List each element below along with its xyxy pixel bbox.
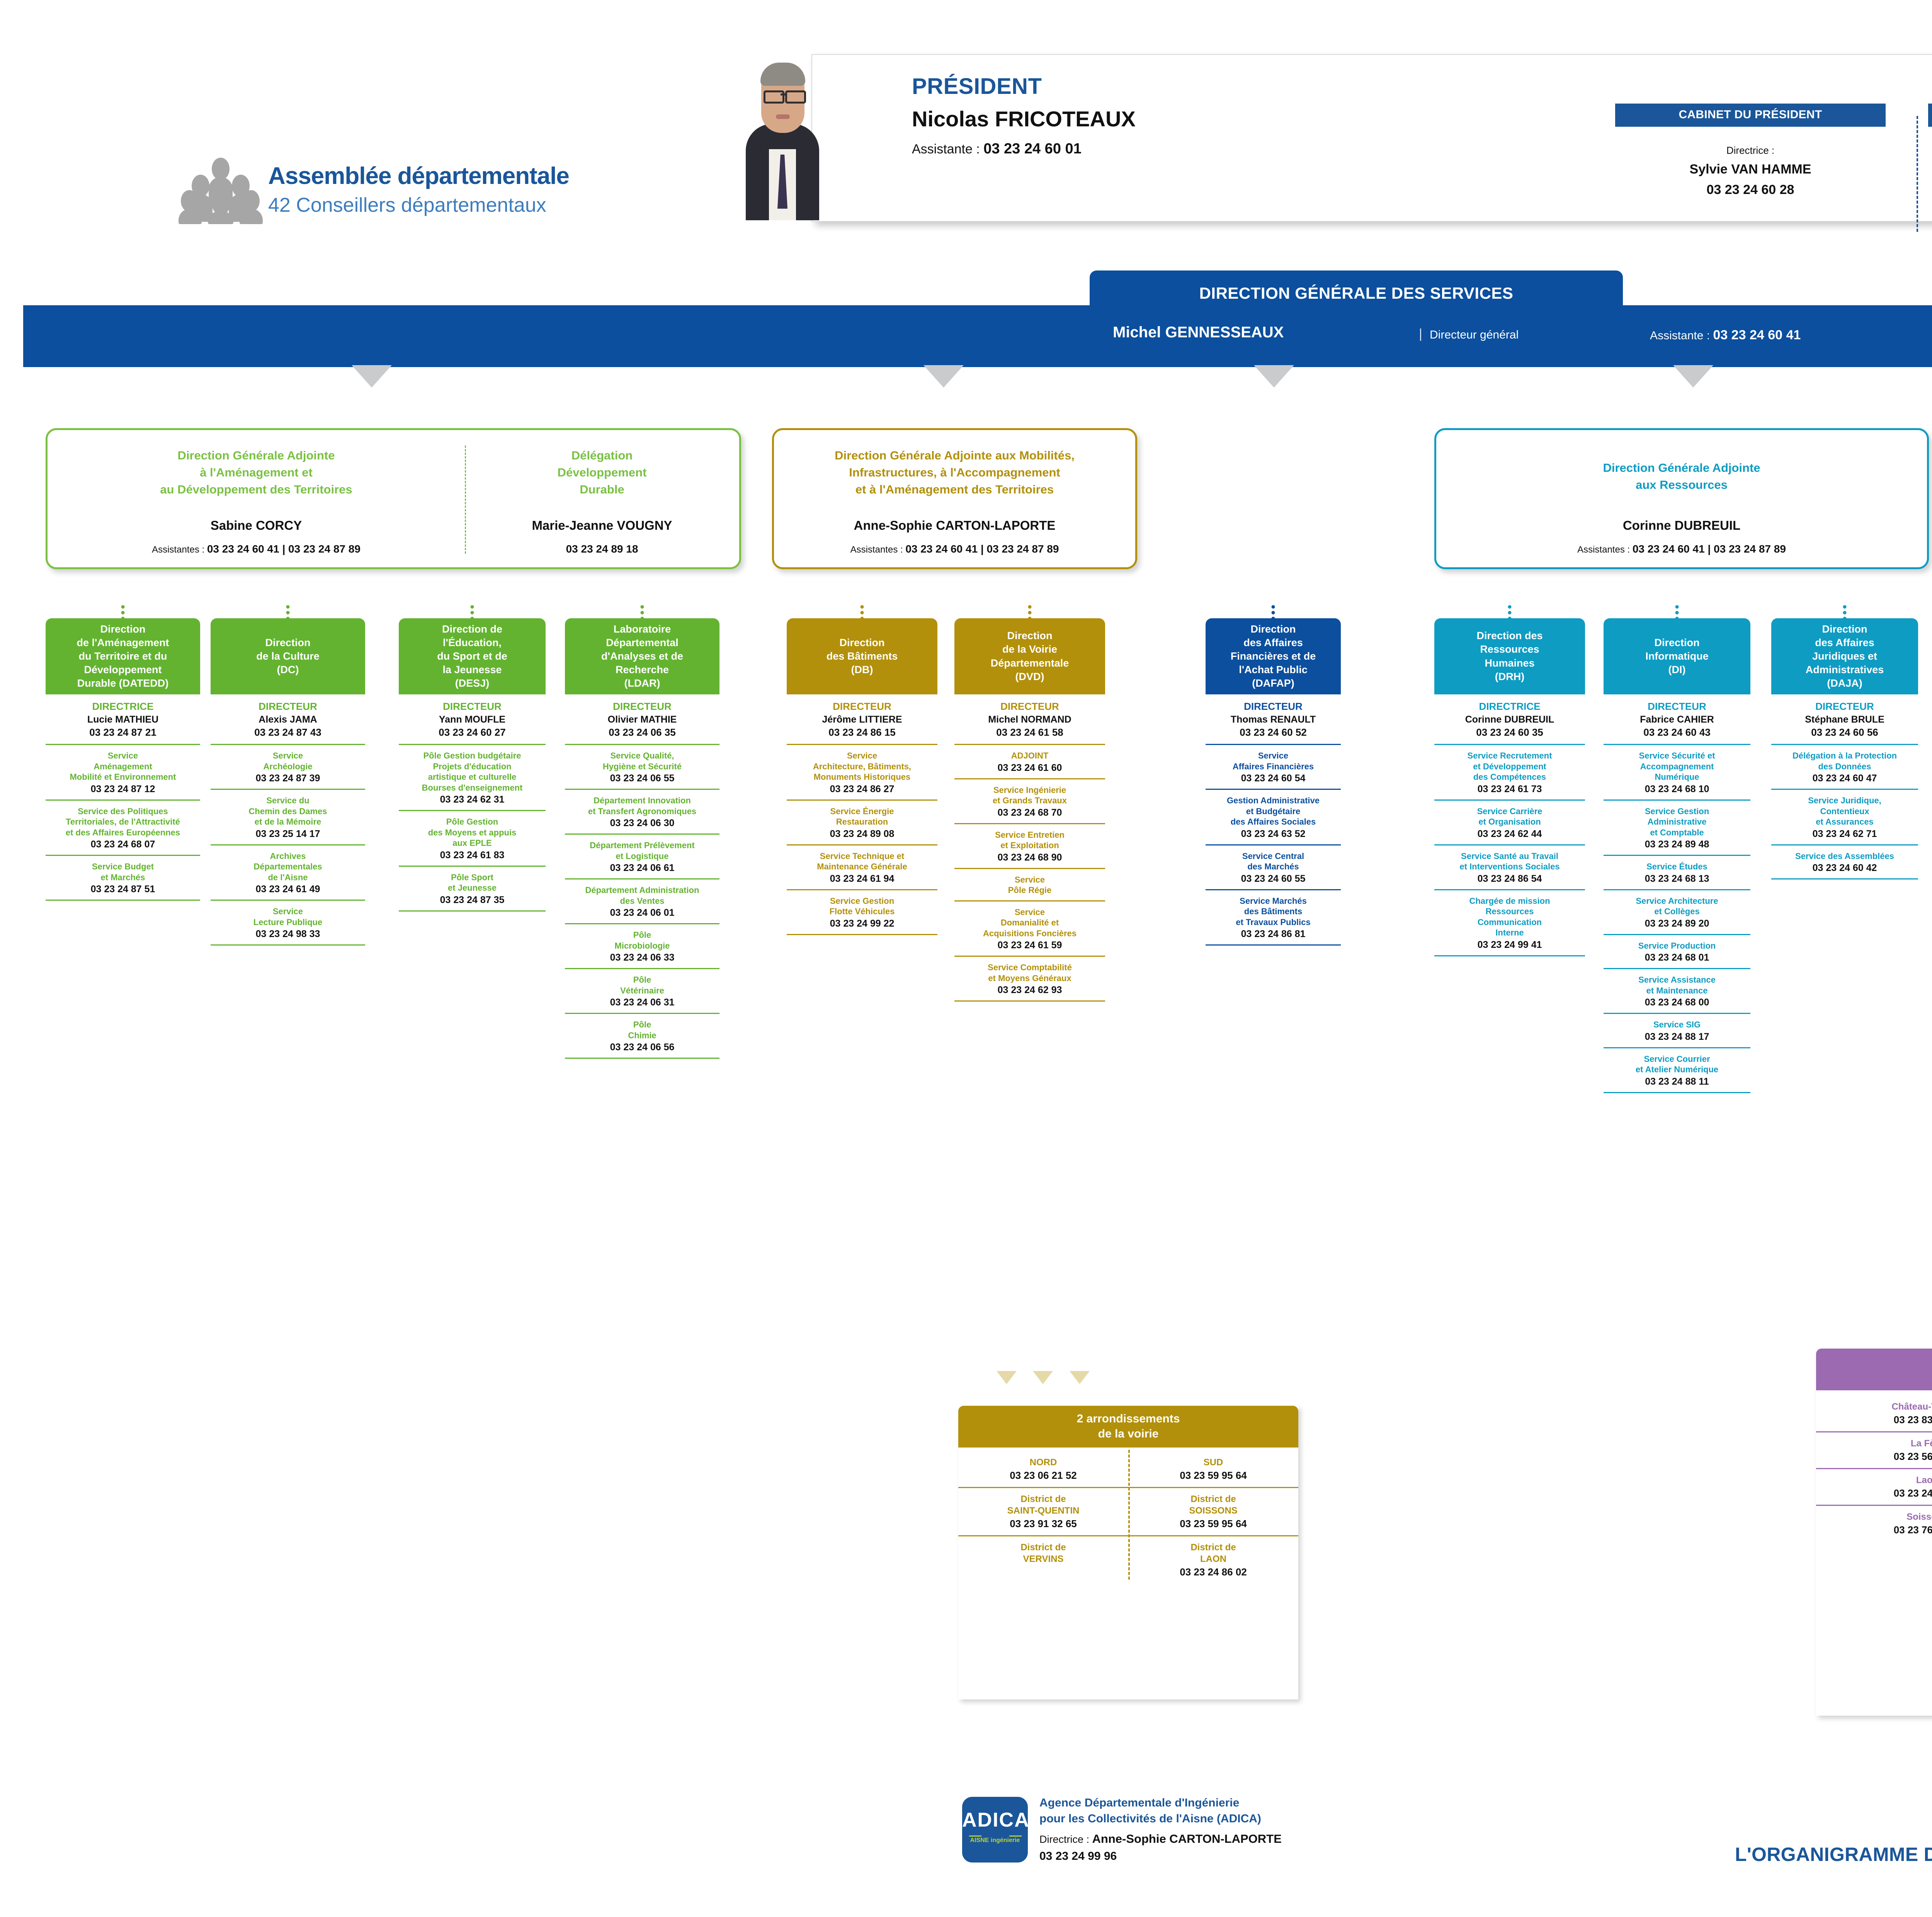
director-role-drh: DIRECTRICE <box>1434 701 1585 713</box>
director-role-dafap: DIRECTEUR <box>1206 701 1341 713</box>
service-dafap-1: Gestion Administrativeet Budgétairedes A… <box>1206 789 1341 844</box>
service-label-desj-0: Pôle Gestion budgétaireProjets d'éducati… <box>399 750 546 793</box>
president-name: Nicolas FRICOTEAUX <box>912 106 1260 131</box>
voirie-arrows <box>989 1371 1113 1386</box>
dga-ressources-assist-tels: 03 23 24 60 41 | 03 23 24 87 89 <box>1633 543 1786 555</box>
service-tel-desj-2: 03 23 24 87 35 <box>399 895 546 906</box>
president-photo <box>746 58 819 220</box>
arr-body-tel-0-1: 03 23 91 32 65 <box>961 1518 1126 1530</box>
direction-title-datedd: Directionde l'Aménagementdu Territoire e… <box>46 618 200 694</box>
direction-title-desj: Direction del'Éducation,du Sport et dela… <box>399 618 546 694</box>
service-dvd-3: ServicePôle Régie <box>954 868 1105 900</box>
service-label-db-2: Service Technique etMaintenance Générale <box>787 851 937 872</box>
service-tel-dc-1: 03 23 25 14 17 <box>211 828 365 840</box>
service-daja-0: Délégation à la Protectiondes Données03 … <box>1771 744 1918 789</box>
service-tel-daja-1: 03 23 24 62 71 <box>1771 828 1918 840</box>
column-end-rule-dvd <box>954 1000 1105 1002</box>
director-tel-daja: 03 23 24 60 56 <box>1771 726 1918 738</box>
arr-body-label-0-2: District deVERVINS <box>961 1542 1126 1565</box>
service-daja-2: Service des Assemblées03 23 24 60 42 <box>1771 844 1918 879</box>
director-name-daja: Stéphane BRULE <box>1771 714 1918 725</box>
dga-ressources-box: Direction Générale Adjointeaux Ressource… <box>1434 428 1929 569</box>
dga-ressources-assistants: Assistantes : 03 23 24 60 41 | 03 23 24 … <box>1442 543 1922 555</box>
service-tel-db-2: 03 23 24 61 94 <box>787 873 937 885</box>
service-label-db-1: Service ÉnergieRestauration <box>787 806 937 827</box>
service-label-drh-0: Service Recrutementet Développementdes C… <box>1434 750 1585 782</box>
assembly-title: Assemblée départementale <box>268 162 569 190</box>
dga-ressources-title: Direction Générale Adjointeaux Ressource… <box>1442 459 1922 493</box>
service-db-1: Service ÉnergieRestauration03 23 24 89 0… <box>787 799 937 844</box>
organigramme-page: Assemblée départementale 42 Conseillers … <box>0 0 1932 1917</box>
dgs-assistant-tel: 03 23 24 60 41 <box>1713 328 1801 342</box>
arrondissements-title: 2 arrondissementsde la voirie <box>958 1406 1298 1448</box>
service-tel-ldar-5: 03 23 24 06 31 <box>565 997 719 1008</box>
direction-column-datedd: Directionde l'Aménagementdu Territoire e… <box>46 618 200 901</box>
director-name-di: Fabrice CAHIER <box>1604 714 1750 725</box>
service-ldar-3: Département Administrationdes Ventes03 2… <box>565 878 719 923</box>
service-tel-dvd-5: 03 23 24 62 93 <box>954 985 1105 996</box>
column-end-rule-drh <box>1434 955 1585 956</box>
arr-body-entry-1-0: SUD03 23 59 95 64 <box>1128 1451 1298 1487</box>
service-label-dvd-4: ServiceDomanialité etAcquisitions Fonciè… <box>954 907 1105 939</box>
arr-body-col-1: SUD03 23 59 95 64District deSOISSONS03 2… <box>1128 1451 1298 1584</box>
service-tel-desj-1: 03 23 24 61 83 <box>399 850 546 861</box>
service-dvd-4: ServiceDomanialité etAcquisitions Fonciè… <box>954 900 1105 956</box>
arr-body-label-0-1: District deSAINT-QUENTIN <box>961 1493 1126 1517</box>
service-tel-dafap-0: 03 23 24 60 54 <box>1206 773 1341 784</box>
dgs-separator: | <box>1419 327 1422 342</box>
adica-block: ADICA AISNE ingénierie Agence Départemen… <box>962 1797 1028 1863</box>
dga-mobilites-assist-label: Assistantes : <box>850 544 903 555</box>
connector-dots-ldar <box>641 605 644 623</box>
communication-director-role: Directrice : <box>1928 145 1932 156</box>
dgs-assistant: Assistante : 03 23 24 60 41 <box>1650 328 1801 343</box>
direction-column-di: DirectionInformatique(DI)DIRECTEURFabric… <box>1604 618 1750 1093</box>
direction-column-dc: Directionde la Culture(DC)DIRECTEURAlexi… <box>211 618 365 946</box>
utas-body-tel-0-1: 03 23 56 60 24 <box>1818 1451 1932 1463</box>
director-name-ldar: Olivier MATHIE <box>565 714 719 725</box>
service-datedd-2: Service Budgetet Marchés03 23 24 87 51 <box>46 855 200 900</box>
service-tel-ldar-0: 03 23 24 06 55 <box>565 773 719 784</box>
service-di-0: Service Sécurité etAccompagnementNumériq… <box>1604 744 1750 799</box>
service-drh-2: Service Santé au Travailet Interventions… <box>1434 844 1585 889</box>
dga-ressources-name: Corinne DUBREUIL <box>1442 518 1922 533</box>
cabinet-du-president-title: CABINET DU PRÉSIDENT <box>1615 104 1886 127</box>
service-tel-drh-3: 03 23 24 99 41 <box>1434 939 1585 951</box>
connector-dots-dc <box>286 605 290 623</box>
service-tel-dafap-3: 03 23 24 86 81 <box>1206 929 1341 940</box>
connector-dots-daja <box>1843 605 1847 623</box>
service-label-dafap-0: ServiceAffaires Financières <box>1206 750 1341 772</box>
service-tel-datedd-1: 03 23 24 68 07 <box>46 839 200 850</box>
arr-body-tel-1-0: 03 23 59 95 64 <box>1131 1470 1296 1482</box>
group-people-icon <box>182 155 259 224</box>
utas-body-label-0-0: Château-Thierry <box>1818 1401 1932 1413</box>
service-label-ldar-5: PôleVétérinaire <box>565 975 719 996</box>
direction-column-drh: Direction desRessourcesHumaines(DRH)DIRE… <box>1434 618 1585 956</box>
dgs-connector-1 <box>352 365 392 388</box>
delegation-dd-tel: 03 23 24 89 18 <box>566 543 638 555</box>
service-tel-db-0: 03 23 24 86 27 <box>787 784 937 795</box>
column-end-rule-dafap <box>1206 944 1341 946</box>
service-tel-db-3: 03 23 24 99 22 <box>787 918 937 929</box>
service-label-di-1: Service GestionAdministrativeet Comptabl… <box>1604 806 1750 838</box>
service-tel-dc-3: 03 23 24 98 33 <box>211 929 365 940</box>
director-role-ldar: DIRECTEUR <box>565 701 719 713</box>
service-label-drh-3: Chargée de missionRessourcesCommunicatio… <box>1434 896 1585 938</box>
direction-column-dafap: Directiondes AffairesFinancières et del'… <box>1206 618 1341 946</box>
director-role-dvd: DIRECTEUR <box>954 701 1105 713</box>
dga-territoires-title: Direction Générale Adjointeà l'Aménageme… <box>59 447 453 498</box>
utas-title: Unités Territoriales d'Action Sociale(UT… <box>1816 1349 1932 1390</box>
cabinet-du-president-block: CABINET DU PRÉSIDENT Directrice : Sylvie… <box>1615 104 1886 197</box>
arr-body-entry-0-1: District deSAINT-QUENTIN03 23 91 32 65 <box>958 1487 1128 1535</box>
arr-body-tel-1-2: 03 23 24 86 02 <box>1131 1566 1296 1578</box>
service-tel-daja-0: 03 23 24 60 47 <box>1771 773 1918 784</box>
service-di-4: Service Production03 23 24 68 01 <box>1604 934 1750 968</box>
connector-dots-dvd <box>1028 605 1032 623</box>
service-label-desj-2: Pôle Sportet Jeunesse <box>399 872 546 893</box>
direction-column-daja: Directiondes AffairesJuridiques etAdmini… <box>1771 618 1918 879</box>
direction-title-daja: Directiondes AffairesJuridiques etAdmini… <box>1771 618 1918 694</box>
delegation-dd-tel-block: 03 23 24 89 18 <box>476 543 728 555</box>
adica-director-label: Directrice : <box>1039 1834 1089 1845</box>
service-dafap-0: ServiceAffaires Financières03 23 24 60 5… <box>1206 744 1341 789</box>
adica-director: Directrice : Anne-Sophie CARTON-LAPORTE <box>1039 1832 1426 1846</box>
service-label-dc-3: ServiceLecture Publique <box>211 906 365 927</box>
adica-title: Agence Départementale d'Ingénieriepour l… <box>1039 1795 1426 1827</box>
service-dafap-3: Service Marchésdes Bâtimentset Travaux P… <box>1206 889 1341 945</box>
service-tel-desj-0: 03 23 24 62 31 <box>399 794 546 805</box>
service-desj-0: Pôle Gestion budgétaireProjets d'éducati… <box>399 744 546 810</box>
service-label-di-0: Service Sécurité etAccompagnementNumériq… <box>1604 750 1750 782</box>
connector-dots-dafap <box>1272 605 1275 623</box>
service-desj-2: Pôle Sportet Jeunesse03 23 24 87 35 <box>399 866 546 910</box>
dgs-bar <box>23 305 1932 367</box>
service-tel-datedd-2: 03 23 24 87 51 <box>46 884 200 895</box>
service-tel-dvd-1: 03 23 24 68 70 <box>954 807 1105 818</box>
dga-territoires-assist-label: Assistantes : <box>152 544 204 555</box>
service-tel-datedd-0: 03 23 24 87 12 <box>46 784 200 795</box>
service-tel-dvd-2: 03 23 24 68 90 <box>954 852 1105 863</box>
service-drh-0: Service Recrutementet Développementdes C… <box>1434 744 1585 799</box>
service-tel-ldar-6: 03 23 24 06 56 <box>565 1042 719 1053</box>
director-name-drh: Corinne DUBREUIL <box>1434 714 1585 725</box>
adica-logo-icon: ADICA AISNE ingénierie <box>962 1797 1028 1863</box>
service-datedd-0: ServiceAménagementMobilité et Environnem… <box>46 744 200 799</box>
director-name-db: Jérôme LITTIERE <box>787 714 937 725</box>
service-tel-di-4: 03 23 24 68 01 <box>1604 952 1750 963</box>
service-label-di-3: Service Architectureet Collèges <box>1604 896 1750 917</box>
director-tel-di: 03 23 24 60 43 <box>1604 726 1750 738</box>
service-label-dc-2: ArchivesDépartementalesde l'Aisne <box>211 851 365 883</box>
arr-body-col-0: NORD03 23 06 21 52District deSAINT-QUENT… <box>958 1451 1128 1570</box>
service-tel-ldar-3: 03 23 24 06 01 <box>565 907 719 919</box>
utas-body-entry-0-0: Château-Thierry03 23 83 85 03 <box>1816 1396 1932 1431</box>
direction-column-desj: Direction del'Éducation,du Sport et dela… <box>399 618 546 912</box>
director-tel-db: 03 23 24 86 15 <box>787 726 937 738</box>
dga-mobilites-box: Direction Générale Adjointe aux Mobilité… <box>772 428 1137 569</box>
director-role-di: DIRECTEUR <box>1604 701 1750 713</box>
director-role-db: DIRECTEUR <box>787 701 937 713</box>
director-role-daja: DIRECTEUR <box>1771 701 1918 713</box>
service-label-di-2: Service Études <box>1604 861 1750 872</box>
president-role: PRÉSIDENT <box>912 73 1260 99</box>
direction-title-ldar: LaboratoireDépartementald'Analyses et de… <box>565 618 719 694</box>
service-ldar-1: Département Innovationet Transfert Agron… <box>565 789 719 833</box>
connector-dots-datedd <box>121 605 125 623</box>
dga-mobilites-assistants: Assistantes : 03 23 24 60 41 | 03 23 24 … <box>779 543 1130 555</box>
utas-body-entry-0-3: Soissons03 23 76 30 41 <box>1816 1505 1932 1541</box>
service-label-db-3: Service GestionFlotte Véhicules <box>787 896 937 917</box>
direction-title-dvd: Directionde la VoirieDépartementale(DVD) <box>954 618 1105 694</box>
service-db-2: Service Technique etMaintenance Générale… <box>787 844 937 889</box>
service-label-ldar-6: PôleChimie <box>565 1019 719 1041</box>
utas-body-tel-0-3: 03 23 76 30 41 <box>1818 1524 1932 1536</box>
service-tel-dafap-1: 03 23 24 63 52 <box>1206 828 1341 840</box>
arr-body-entry-0-2: District deVERVINS <box>958 1535 1128 1570</box>
president-assistant-tel: 03 23 24 60 01 <box>983 141 1082 157</box>
service-label-dvd-2: Service Entretienet Exploitation <box>954 830 1105 851</box>
service-dafap-2: Service Centraldes Marchés03 23 24 60 55 <box>1206 844 1341 889</box>
service-tel-dc-0: 03 23 24 87 39 <box>211 773 365 784</box>
director-name-dc: Alexis JAMA <box>211 714 365 725</box>
connector-dots-di <box>1675 605 1679 623</box>
service-ldar-4: PôleMicrobiologie03 23 24 06 33 <box>565 923 719 968</box>
delegation-dd-title: DélégationDéveloppementDurable <box>476 447 728 498</box>
service-dc-3: ServiceLecture Publique03 23 24 98 33 <box>211 900 365 944</box>
service-ldar-5: PôleVétérinaire03 23 24 06 31 <box>565 968 719 1013</box>
service-tel-ldar-1: 03 23 24 06 30 <box>565 818 719 829</box>
service-drh-1: Service Carrièreet Organisation03 23 24 … <box>1434 799 1585 844</box>
service-dc-1: Service duChemin des Dameset de la Mémoi… <box>211 789 365 844</box>
director-name-dvd: Michel NORMAND <box>954 714 1105 725</box>
delegation-dd-name: Marie-Jeanne VOUGNY <box>476 518 728 533</box>
connector-dots-db <box>861 605 864 623</box>
direction-title-di: DirectionInformatique(DI) <box>1604 618 1750 694</box>
service-label-dc-1: Service duChemin des Dameset de la Mémoi… <box>211 795 365 827</box>
utas-body-col-0: Château-Thierry03 23 83 85 03La Fère03 2… <box>1816 1396 1932 1541</box>
service-dc-2: ArchivesDépartementalesde l'Aisne03 23 2… <box>211 844 365 900</box>
service-label-dvd-0: ADJOINT <box>954 750 1105 761</box>
dga-mobilites-name: Anne-Sophie CARTON-LAPORTE <box>779 518 1130 533</box>
service-label-dvd-1: Service Ingénierieet Grands Travaux <box>954 785 1105 806</box>
director-tel-datedd: 03 23 24 87 21 <box>46 726 200 738</box>
director-tel-desj: 03 23 24 60 27 <box>399 726 546 738</box>
arr-body-label-1-1: District deSOISSONS <box>1131 1493 1296 1517</box>
arr-body-label-0-0: NORD <box>961 1457 1126 1468</box>
dgs-name: Michel GENNESSEAUX <box>1113 324 1284 341</box>
director-tel-drh: 03 23 24 60 35 <box>1434 726 1585 738</box>
service-tel-di-2: 03 23 24 68 13 <box>1604 873 1750 885</box>
header-divider-1 <box>1917 116 1918 232</box>
direction-title-drh: Direction desRessourcesHumaines(DRH) <box>1434 618 1585 694</box>
service-ldar-6: PôleChimie03 23 24 06 56 <box>565 1013 719 1058</box>
column-end-rule-di <box>1604 1092 1750 1093</box>
director-tel-dc: 03 23 24 87 43 <box>211 726 365 738</box>
dgs-title: DIRECTION GÉNÉRALE DES SERVICES <box>1199 284 1514 302</box>
service-label-di-4: Service Production <box>1604 941 1750 951</box>
director-tel-ldar: 03 23 24 06 35 <box>565 726 719 738</box>
service-daja-1: Service Juridique,Contentieuxet Assuranc… <box>1771 789 1918 844</box>
communication-director-name: Annie BEAUVILLAIN <box>1928 162 1932 177</box>
cabinet-director-tel: 03 23 24 60 28 <box>1615 182 1886 197</box>
director-role-datedd: DIRECTRICE <box>46 701 200 713</box>
adica-director-name: Anne-Sophie CARTON-LAPORTE <box>1092 1832 1282 1846</box>
arr-body-label-1-0: SUD <box>1131 1457 1296 1468</box>
service-ldar-0: Service Qualité,Hygiène et Sécurité03 23… <box>565 744 719 789</box>
director-role-desj: DIRECTEUR <box>399 701 546 713</box>
service-tel-drh-2: 03 23 24 86 54 <box>1434 873 1585 885</box>
service-tel-di-3: 03 23 24 89 20 <box>1604 918 1750 929</box>
utas-body-label-0-3: Soissons <box>1818 1511 1932 1523</box>
service-label-ldar-4: PôleMicrobiologie <box>565 930 719 951</box>
service-di-2: Service Études03 23 24 68 13 <box>1604 855 1750 889</box>
dgs-connector-3 <box>1254 365 1294 388</box>
column-end-rule-dc <box>211 944 365 946</box>
service-label-dafap-2: Service Centraldes Marchés <box>1206 851 1341 872</box>
director-tel-dvd: 03 23 24 61 58 <box>954 726 1105 738</box>
cabinet-director-role: Directrice : <box>1615 145 1886 156</box>
column-end-rule-daja <box>1771 878 1918 879</box>
service-dc-0: ServiceArchéologie03 23 24 87 39 <box>211 744 365 789</box>
service-label-datedd-0: ServiceAménagementMobilité et Environnem… <box>46 750 200 782</box>
column-end-rule-datedd <box>46 900 200 901</box>
connector-dots-desj <box>471 605 474 623</box>
service-label-dvd-5: Service Comptabilitéet Moyens Généraux <box>954 962 1105 983</box>
service-label-dafap-3: Service Marchésdes Bâtimentset Travaux P… <box>1206 896 1341 928</box>
dga-territoires-assistants: Assistantes : 03 23 24 60 41 | 03 23 24 … <box>59 543 453 555</box>
utas-body-tel-0-0: 03 23 83 85 03 <box>1818 1414 1932 1426</box>
president-assistant-label: Assistante : <box>912 142 980 156</box>
service-tel-di-7: 03 23 24 88 11 <box>1604 1076 1750 1087</box>
service-tel-dvd-4: 03 23 24 61 59 <box>954 940 1105 951</box>
utas-body-entry-0-2: Laon03 23 24 61 04 <box>1816 1468 1932 1505</box>
service-dvd-0: ADJOINT03 23 24 61 60 <box>954 744 1105 778</box>
service-ldar-2: Département Prélèvementet Logistique03 2… <box>565 833 719 878</box>
service-tel-di-6: 03 23 24 88 17 <box>1604 1031 1750 1043</box>
service-dvd-2: Service Entretienet Exploitation03 23 24… <box>954 823 1105 868</box>
service-tel-di-0: 03 23 24 68 10 <box>1604 784 1750 795</box>
service-label-di-5: Service Assistanceet Maintenance <box>1604 975 1750 996</box>
service-label-desj-1: Pôle Gestiondes Moyens et appuisaux EPLE <box>399 816 546 849</box>
service-label-dafap-1: Gestion Administrativeet Budgétairedes A… <box>1206 795 1341 827</box>
service-di-1: Service GestionAdministrativeet Comptabl… <box>1604 799 1750 855</box>
dga-territoires-divider <box>465 446 466 554</box>
utas-body-tel-0-2: 03 23 24 61 04 <box>1818 1487 1932 1499</box>
service-label-drh-2: Service Santé au Travailet Interventions… <box>1434 851 1585 872</box>
service-di-5: Service Assistanceet Maintenance03 23 24… <box>1604 968 1750 1013</box>
utas-body-label-0-1: La Fère <box>1818 1438 1932 1449</box>
service-label-datedd-2: Service Budgetet Marchés <box>46 861 200 883</box>
arr-body-label-1-2: District deLAON <box>1131 1542 1296 1565</box>
direction-title-db: Directiondes Bâtiments(DB) <box>787 618 937 694</box>
arr-body-entry-0-0: NORD03 23 06 21 52 <box>958 1451 1128 1487</box>
service-label-ldar-1: Département Innovationet Transfert Agron… <box>565 795 719 816</box>
utas-body-label-0-2: Laon <box>1818 1475 1932 1486</box>
director-tel-dafap: 03 23 24 60 52 <box>1206 726 1341 738</box>
service-tel-ldar-4: 03 23 24 06 33 <box>565 952 719 963</box>
column-end-rule-desj <box>399 910 546 912</box>
service-dvd-1: Service Ingénierieet Grands Travaux03 23… <box>954 778 1105 823</box>
adica-logo-sub: AISNE ingénierie <box>962 1837 1028 1844</box>
dga-mobilites-title: Direction Générale Adjointe aux Mobilité… <box>779 447 1130 498</box>
direction-column-ldar: LaboratoireDépartementald'Analyses et de… <box>565 618 719 1059</box>
service-drh-3: Chargée de missionRessourcesCommunicatio… <box>1434 889 1585 955</box>
service-tel-dc-2: 03 23 24 61 49 <box>211 884 365 895</box>
service-tel-dvd-0: 03 23 24 61 60 <box>954 762 1105 774</box>
service-label-daja-2: Service des Assemblées <box>1771 851 1918 862</box>
service-desj-1: Pôle Gestiondes Moyens et appuisaux EPLE… <box>399 810 546 866</box>
service-label-dc-0: ServiceArchéologie <box>211 750 365 772</box>
arr-body-tel-0-0: 03 23 06 21 52 <box>961 1470 1126 1482</box>
service-tel-di-1: 03 23 24 89 48 <box>1604 839 1750 850</box>
dga-territoires-assist-tels: 03 23 24 60 41 | 03 23 24 87 89 <box>207 543 361 555</box>
service-tel-daja-2: 03 23 24 60 42 <box>1771 862 1918 874</box>
arr-body-tel-1-1: 03 23 59 95 64 <box>1131 1518 1296 1530</box>
column-end-rule-db <box>787 934 937 935</box>
arr-body-entry-1-1: District deSOISSONS03 23 59 95 64 <box>1128 1487 1298 1535</box>
dgs-connector-2 <box>923 365 964 388</box>
service-tel-dafap-2: 03 23 24 60 55 <box>1206 873 1341 885</box>
director-name-desj: Yann MOUFLE <box>399 714 546 725</box>
director-name-datedd: Lucie MATHIEU <box>46 714 200 725</box>
service-label-datedd-1: Service des PolitiquesTerritoriales, de … <box>46 806 200 838</box>
dga-ressources-assist-label: Assistantes : <box>1577 544 1630 555</box>
service-dvd-5: Service Comptabilitéet Moyens Généraux03… <box>954 956 1105 1000</box>
arr-body-entry-1-2: District deLAON03 23 24 86 02 <box>1128 1535 1298 1584</box>
footer-title: L'ORGANIGRAMME DES SERVICES DU DÉPARTEME… <box>1735 1843 1932 1866</box>
column-end-rule-ldar <box>565 1058 719 1059</box>
dga-territoires-name: Sabine CORCY <box>59 518 453 533</box>
service-label-daja-0: Délégation à la Protectiondes Données <box>1771 750 1918 772</box>
service-label-ldar-2: Département Prélèvementet Logistique <box>565 840 719 861</box>
service-label-ldar-0: Service Qualité,Hygiène et Sécurité <box>565 750 719 772</box>
service-db-3: Service GestionFlotte Véhicules03 23 24 … <box>787 889 937 934</box>
direction-column-db: Directiondes Bâtiments(DB)DIRECTEURJérôm… <box>787 618 937 935</box>
service-datedd-1: Service des PolitiquesTerritoriales, de … <box>46 799 200 855</box>
service-tel-di-5: 03 23 24 68 00 <box>1604 997 1750 1008</box>
assembly-subtitle: 42 Conseillers départementaux <box>268 194 569 217</box>
service-label-ldar-3: Département Administrationdes Ventes <box>565 885 719 906</box>
service-tel-drh-1: 03 23 24 62 44 <box>1434 828 1585 840</box>
communication-director-block: Directrice : Annie BEAUVILLAIN 03 23 24 … <box>1928 104 1932 197</box>
service-db-0: ServiceArchitecture, Bâtiments,Monuments… <box>787 744 937 799</box>
service-label-db-0: ServiceArchitecture, Bâtiments,Monuments… <box>787 750 937 782</box>
cabinet-director-name: Sylvie VAN HAMME <box>1615 162 1886 177</box>
connector-dots-drh <box>1508 605 1512 623</box>
service-di-7: Service Courrieret Atelier Numérique03 2… <box>1604 1047 1750 1092</box>
communication-director-tel: 03 23 24 86 99 <box>1928 182 1932 197</box>
assembly-block: Assemblée départementale 42 Conseillers … <box>182 151 638 228</box>
service-di-3: Service Architectureet Collèges03 23 24 … <box>1604 889 1750 934</box>
dga-mobilites-assist-tels: 03 23 24 60 41 | 03 23 24 87 89 <box>905 543 1059 555</box>
service-tel-db-1: 03 23 24 89 08 <box>787 828 937 840</box>
director-role-dc: DIRECTEUR <box>211 701 365 713</box>
service-label-di-6: Service SIG <box>1604 1019 1750 1030</box>
adica-logo-text: ADICA <box>962 1808 1028 1832</box>
service-label-di-7: Service Courrieret Atelier Numérique <box>1604 1054 1750 1075</box>
dgs-role: Directeur général <box>1430 328 1519 342</box>
service-di-6: Service SIG03 23 24 88 17 <box>1604 1013 1750 1047</box>
direction-title-dc: Directionde la Culture(DC) <box>211 618 365 694</box>
dga-territoires-box: Direction Générale Adjointeà l'Aménageme… <box>46 428 741 569</box>
arrondissements-box: 2 arrondissementsde la voirie NORD03 23 … <box>958 1406 1298 1699</box>
utas-box: Unités Territoriales d'Action Sociale(UT… <box>1816 1349 1932 1716</box>
service-tel-ldar-2: 03 23 24 06 61 <box>565 862 719 874</box>
direction-column-dvd: Directionde la VoirieDépartementale(DVD)… <box>954 618 1105 1002</box>
service-label-drh-1: Service Carrièreet Organisation <box>1434 806 1585 827</box>
